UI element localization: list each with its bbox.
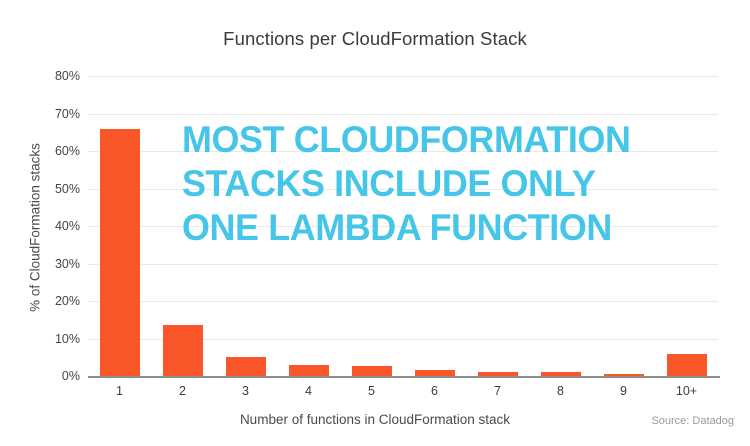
- gridline: [88, 76, 718, 77]
- y-tick-label: 0%: [28, 369, 80, 383]
- x-axis-line: [88, 376, 720, 378]
- x-tick-label: 3: [214, 384, 277, 398]
- callout-line: ONE LAMBDA FUNCTION: [182, 206, 667, 250]
- bar-5[interactable]: [352, 366, 392, 376]
- x-tick-label: 4: [277, 384, 340, 398]
- x-tick-label: 8: [529, 384, 592, 398]
- y-tick-label: 30%: [28, 257, 80, 271]
- callout-annotation: MOST CLOUDFORMATIONSTACKS INCLUDE ONLYON…: [182, 118, 682, 250]
- bar-1[interactable]: [100, 129, 140, 377]
- y-tick-label: 50%: [28, 182, 80, 196]
- y-tick-label: 80%: [28, 69, 80, 83]
- chart-title: Functions per CloudFormation Stack: [0, 28, 750, 50]
- bar-4[interactable]: [289, 365, 329, 376]
- x-tick-label: 9: [592, 384, 655, 398]
- y-tick-label: 70%: [28, 107, 80, 121]
- x-tick-label: 7: [466, 384, 529, 398]
- gridline: [88, 114, 718, 115]
- callout-line: MOST CLOUDFORMATION: [182, 118, 667, 162]
- gridline: [88, 301, 718, 302]
- gridline: [88, 264, 718, 265]
- bar-10+[interactable]: [667, 354, 707, 377]
- x-tick-label: 6: [403, 384, 466, 398]
- x-axis-title: Number of functions in CloudFormation st…: [0, 412, 750, 427]
- chart-figure: Functions per CloudFormation Stack % of …: [0, 0, 750, 446]
- x-tick-label: 5: [340, 384, 403, 398]
- y-tick-label: 10%: [28, 332, 80, 346]
- x-tick-label: 2: [151, 384, 214, 398]
- source-attribution: Source: Datadog: [651, 415, 734, 427]
- y-tick-label: 40%: [28, 219, 80, 233]
- x-tick-label: 10+: [655, 384, 718, 398]
- bar-2[interactable]: [163, 325, 203, 376]
- y-tick-label: 20%: [28, 294, 80, 308]
- x-tick-label: 1: [88, 384, 151, 398]
- y-axis-tick-labels: 0%10%20%30%40%50%60%70%80%: [20, 76, 80, 376]
- callout-line: STACKS INCLUDE ONLY: [182, 162, 667, 206]
- bar-3[interactable]: [226, 357, 266, 376]
- y-tick-label: 60%: [28, 144, 80, 158]
- x-axis-tick-labels: 12345678910+: [88, 384, 718, 402]
